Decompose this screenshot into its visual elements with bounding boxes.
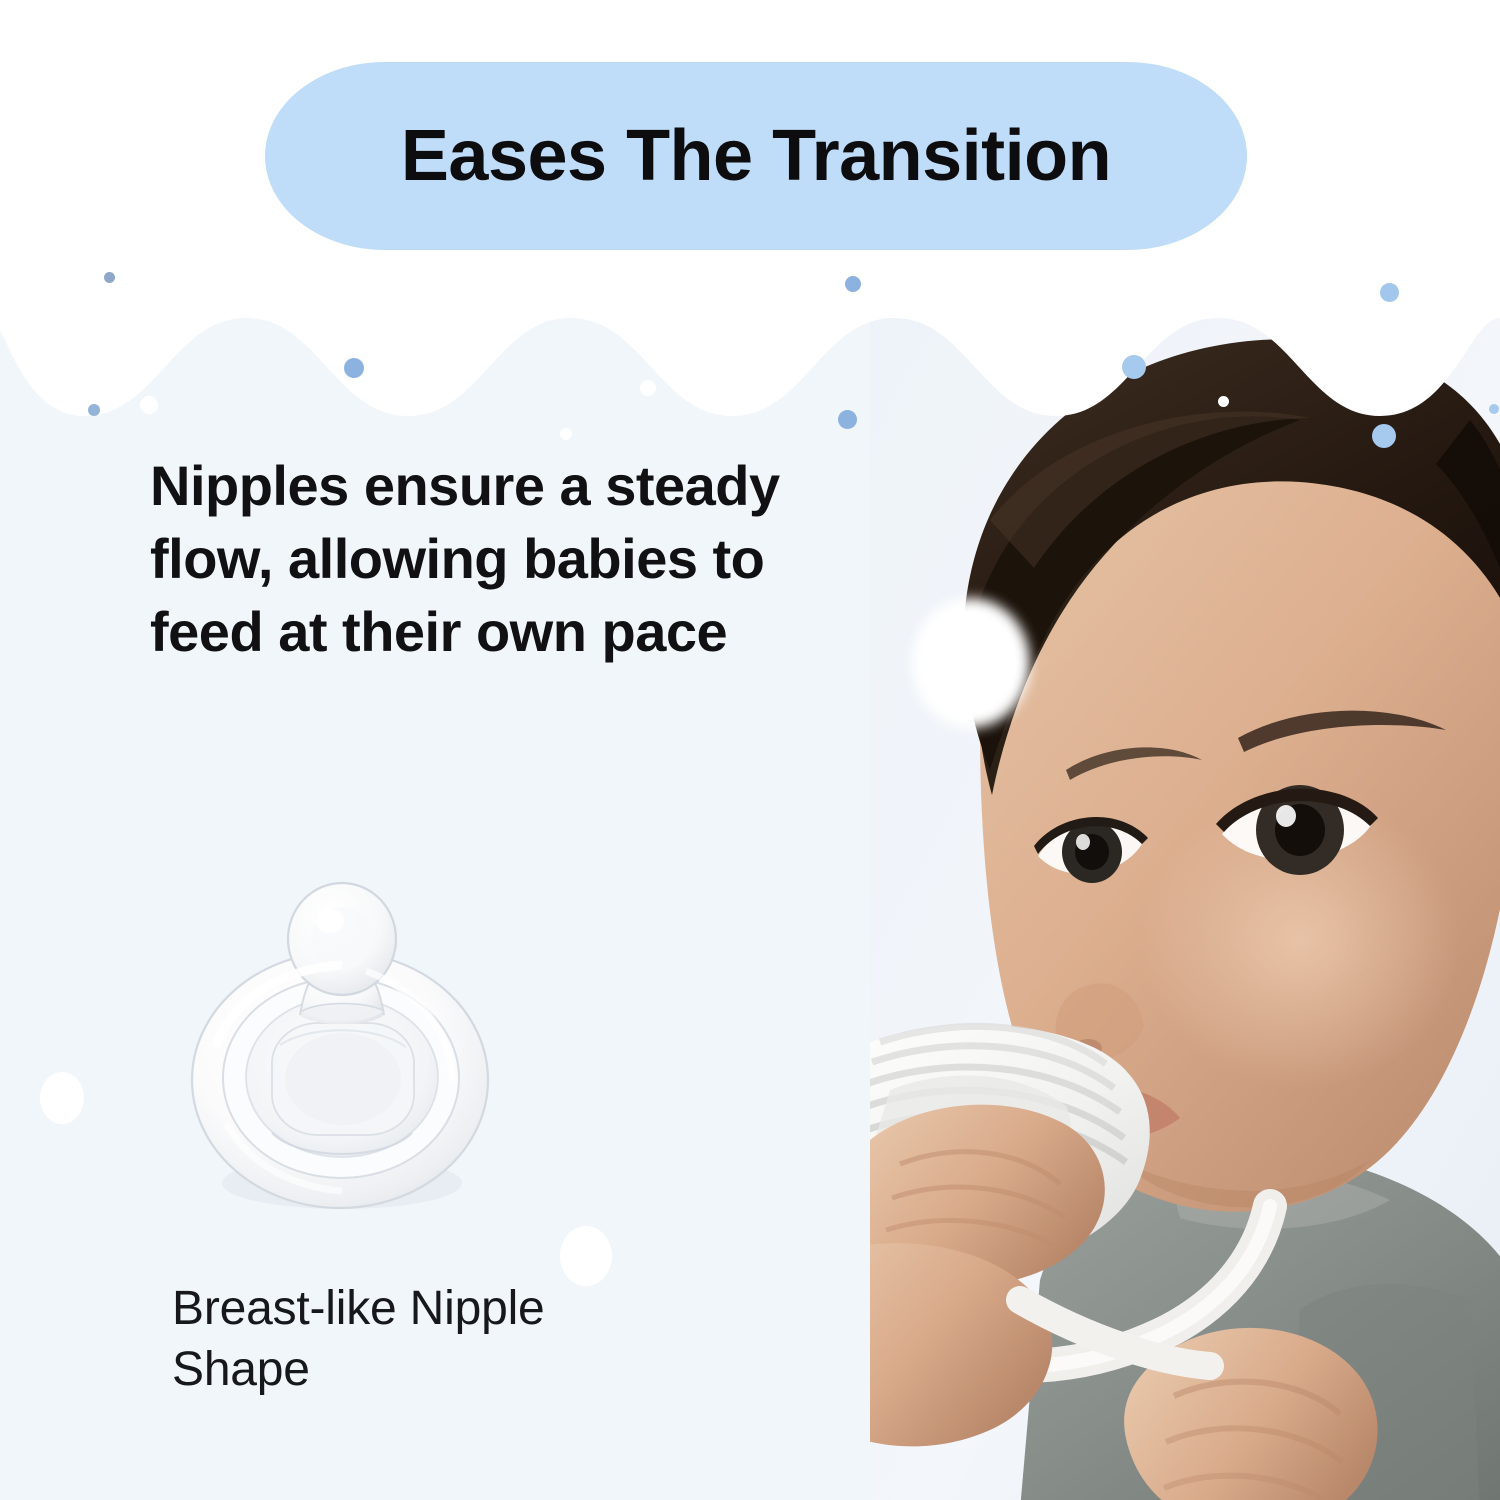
baby-photo	[870, 300, 1500, 1500]
page-title: Eases The Transition	[401, 120, 1111, 192]
product-nipple-image	[160, 865, 520, 1230]
feature-description: Nipples ensure a steady flow, allowing b…	[150, 450, 850, 668]
baby-photo-illustration	[870, 300, 1500, 1500]
promo-page: Eases The Transition Nipples ensure a st…	[0, 0, 1500, 1500]
product-caption: Breast-like Nipple Shape	[172, 1278, 692, 1401]
bottle-nipple-illustration	[160, 865, 520, 1230]
header-banner: Eases The Transition	[265, 62, 1247, 250]
